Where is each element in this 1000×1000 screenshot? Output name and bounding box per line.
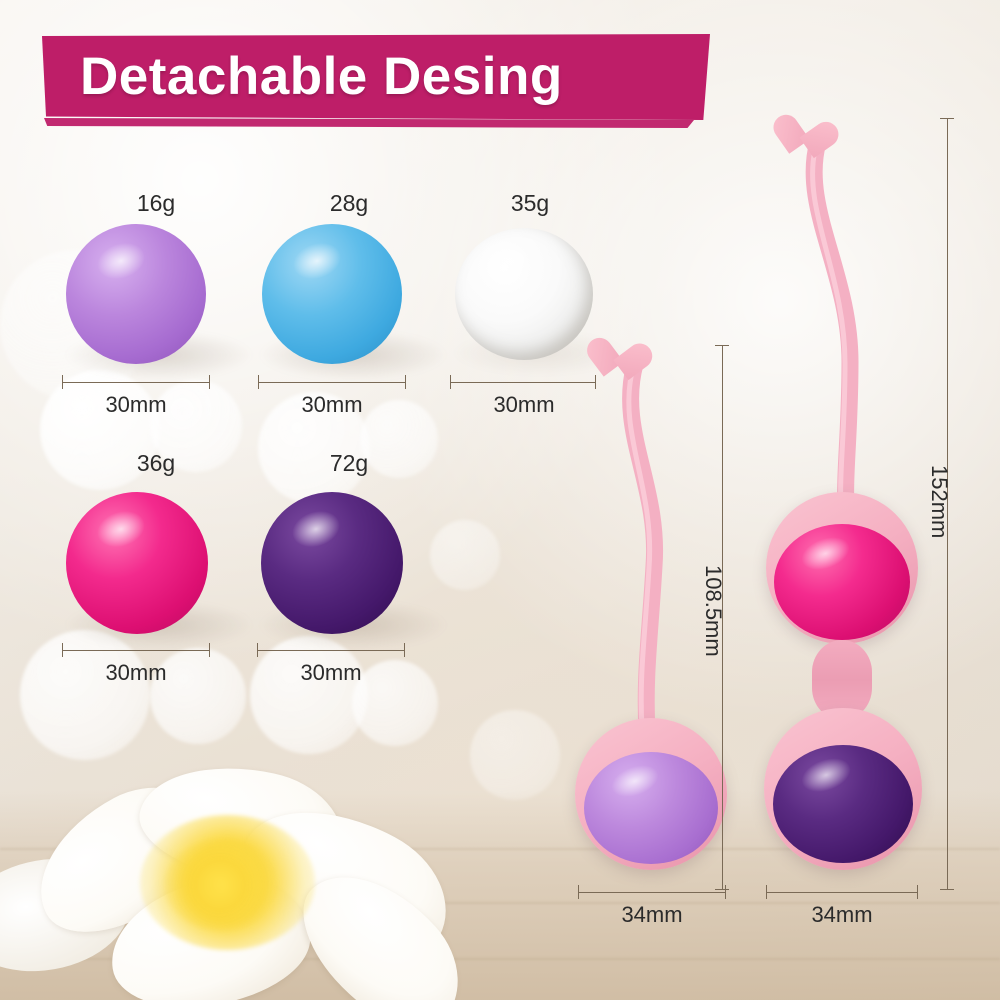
- ball-weight-label: 28g: [289, 190, 409, 217]
- dimension-line: [578, 892, 726, 893]
- ball-weight-label: 72g: [289, 450, 409, 477]
- dimension-line: [62, 650, 210, 651]
- device-width-label: 34mm: [772, 902, 912, 928]
- bokeh-circle: [430, 520, 500, 590]
- heart-pull-tab: [603, 338, 654, 386]
- ball-weight-label: 35g: [470, 190, 590, 217]
- page-title: Detachable Desing: [80, 46, 563, 107]
- ball-diameter-label: 30mm: [261, 660, 401, 686]
- plumeria-flower: [0, 680, 550, 1000]
- ball-diameter-label: 30mm: [66, 660, 206, 686]
- ball-weight-label: 16g: [96, 190, 216, 217]
- device-width-label: 34mm: [582, 902, 722, 928]
- dimension-line: [766, 892, 918, 893]
- flower-center: [165, 840, 275, 930]
- inner-ball-pink: [774, 524, 910, 640]
- product-infographic: Detachable Desing 16g 30mm 28g 30mm 35g …: [0, 0, 1000, 1000]
- ball-clear: [455, 228, 593, 360]
- inner-ball-deep-purple: [773, 745, 913, 863]
- inner-ball-purple-light: [584, 752, 718, 864]
- ball-purple-light: [66, 224, 206, 364]
- heart-pull-tab: [789, 115, 842, 164]
- retrieval-cord: [592, 336, 722, 756]
- dimension-line: [62, 382, 210, 383]
- dimension-line: [257, 650, 405, 651]
- ball-diameter-label: 30mm: [454, 392, 594, 418]
- device-length-label: 108.5mm: [700, 565, 726, 657]
- ball-pink: [66, 492, 208, 634]
- retrieval-cord: [778, 112, 918, 532]
- ball-diameter-label: 30mm: [66, 392, 206, 418]
- ball-weight-label: 36g: [96, 450, 216, 477]
- device-length-label: 152mm: [926, 465, 952, 538]
- dimension-line: [258, 382, 406, 383]
- dimension-line: [450, 382, 596, 383]
- ball-blue: [262, 224, 402, 364]
- ball-deep-purple: [261, 492, 403, 634]
- ball-diameter-label: 30mm: [262, 392, 402, 418]
